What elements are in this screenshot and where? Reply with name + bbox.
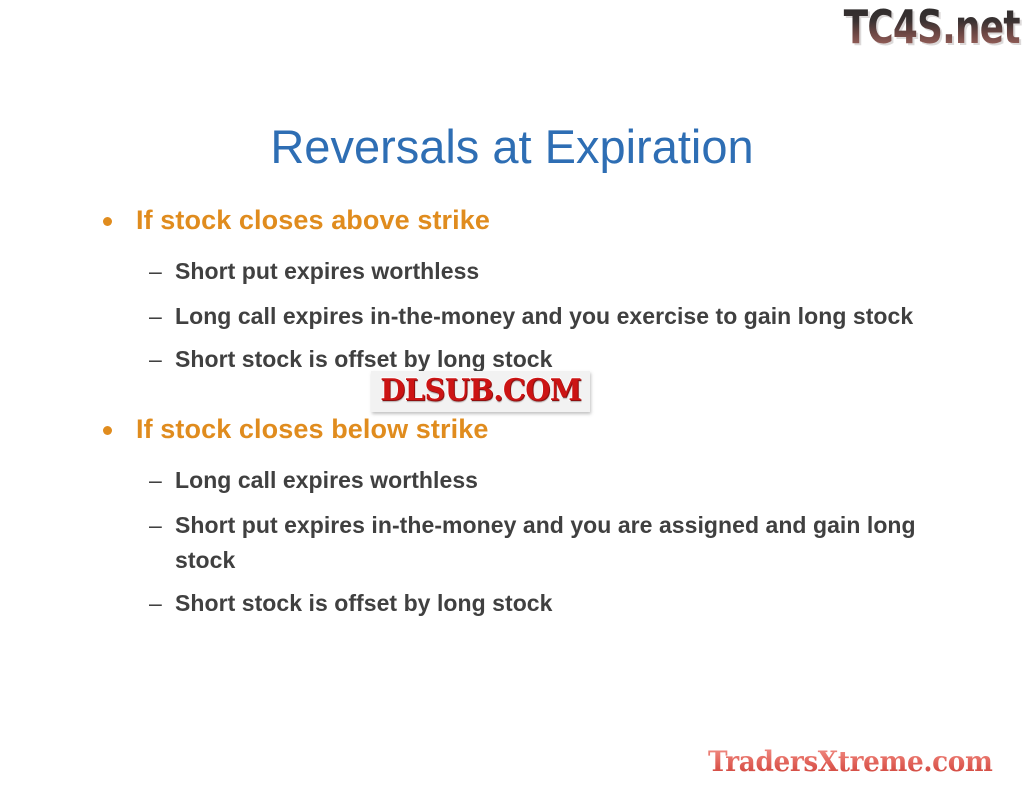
bullet-group-below-strike: If stock closes below strike – Long call… xyxy=(0,405,1024,621)
dash-bullet-icon: – xyxy=(149,508,162,543)
sub-bullet-label: Long call expires in-the-money and you e… xyxy=(175,303,913,329)
bullet-group-above-strike: If stock closes above strike – Short put… xyxy=(0,196,1024,377)
tc4s-net-watermark: TC4S.net xyxy=(844,2,1020,52)
sub-bullet-label: Short put expires in-the-money and you a… xyxy=(175,512,916,573)
dash-bullet-icon: – xyxy=(149,342,162,377)
bullet-dot-icon xyxy=(103,426,112,435)
bullet-level1-below-strike: If stock closes below strike xyxy=(0,405,1024,453)
sub-bullet-item: – Short stock is offset by long stock xyxy=(0,586,1024,621)
dash-bullet-icon: – xyxy=(149,254,162,289)
sub-bullet-item: – Short put expires in-the-money and you… xyxy=(0,508,1024,578)
tradersxtreme-watermark-label: TradersXtreme.com xyxy=(708,745,992,779)
sub-bullet-label: Long call expires worthless xyxy=(175,467,478,493)
sub-bullet-item: – Short put expires worthless xyxy=(0,254,1024,289)
dash-bullet-icon: – xyxy=(149,586,162,621)
sub-bullet-label: Short put expires worthless xyxy=(175,258,479,284)
bullet-dot-icon xyxy=(103,217,112,226)
dash-bullet-icon: – xyxy=(149,299,162,334)
sub-bullet-label: Short stock is offset by long stock xyxy=(175,346,552,372)
bullet-level1-label: If stock closes above strike xyxy=(136,205,490,235)
tradersxtreme-watermark: TradersXtreme.com TradersXtreme.com xyxy=(708,745,1011,779)
dash-bullet-icon: – xyxy=(149,463,162,498)
dlsub-com-watermark: DLSUB.COM xyxy=(371,371,590,412)
sub-bullet-item: – Long call expires in-the-money and you… xyxy=(0,299,1024,334)
slide-title: Reversals at Expiration xyxy=(0,118,1024,176)
slide-canvas: TC4S.net TC4S.net Reversals at Expiratio… xyxy=(0,0,1024,791)
sub-bullet-item: – Long call expires worthless xyxy=(0,463,1024,498)
bullet-level1-above-strike: If stock closes above strike xyxy=(0,196,1024,244)
bullet-level1-label: If stock closes below strike xyxy=(136,414,488,444)
dlsub-com-watermark-label: DLSUB.COM xyxy=(380,375,581,407)
sub-bullet-label: Short stock is offset by long stock xyxy=(175,590,552,616)
